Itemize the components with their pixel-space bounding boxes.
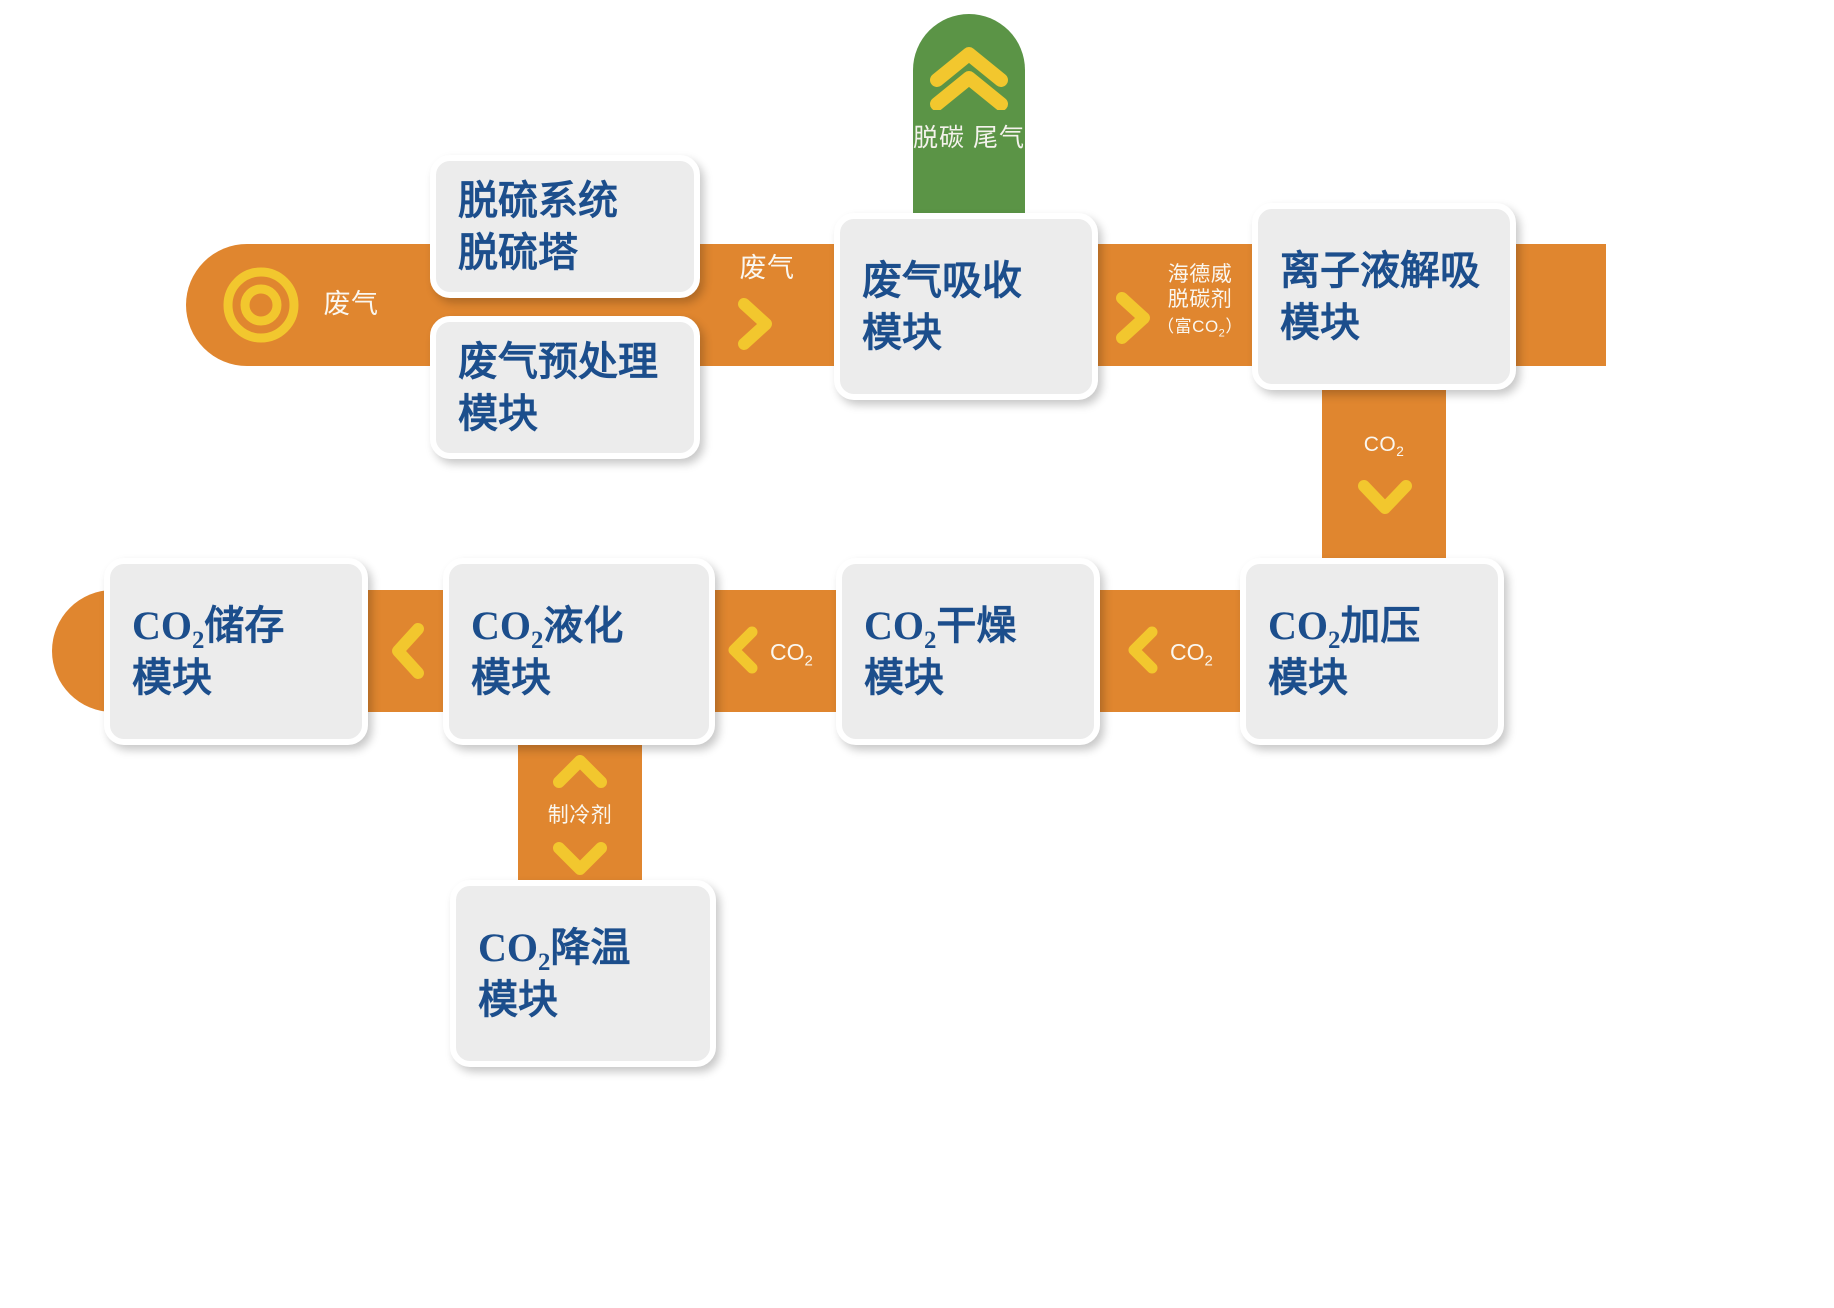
card-label: CO2干燥模块 [842,600,1026,704]
card-exhaust-pretreatment[interactable]: 废气预处理模块 [430,316,700,459]
card-label: CO2降温模块 [456,922,640,1026]
card-label: CO2储存模块 [110,600,294,704]
card-label: CO2液化模块 [449,600,633,704]
card-ionic-liquid-desorption[interactable]: 离子液解吸模块 [1252,203,1516,390]
card-exhaust-absorption[interactable]: 废气吸收模块 [834,213,1098,400]
card-co2-drying[interactable]: CO2干燥模块 [836,558,1100,745]
card-label: 离子液解吸模块 [1258,245,1490,349]
card-co2-cooling[interactable]: CO2降温模块 [450,880,716,1067]
green-terminal-decarbonized-exhaust[interactable]: 脱碳 尾气 [913,14,1025,214]
process-flow-diagram: 废气 脱碳 尾气 脱硫系统脱硫塔 废气预处理模块 废气吸收模块 离子液解吸模块 … [0,0,1834,1308]
card-co2-storage[interactable]: CO2储存模块 [104,558,368,745]
card-label: CO2加压模块 [1246,600,1430,704]
card-label: 废气预处理模块 [436,336,668,440]
card-co2-liquefaction[interactable]: CO2液化模块 [443,558,715,745]
double-chevron-up-icon [927,44,1011,115]
target-ring-icon [222,266,300,344]
card-label: 脱硫系统脱硫塔 [436,175,628,279]
green-terminal-label: 脱碳 尾气 [913,123,1025,154]
card-co2-pressurization[interactable]: CO2加压模块 [1240,558,1504,745]
card-desulfurization-tower[interactable]: 脱硫系统脱硫塔 [430,155,700,298]
card-label: 废气吸收模块 [840,255,1032,359]
